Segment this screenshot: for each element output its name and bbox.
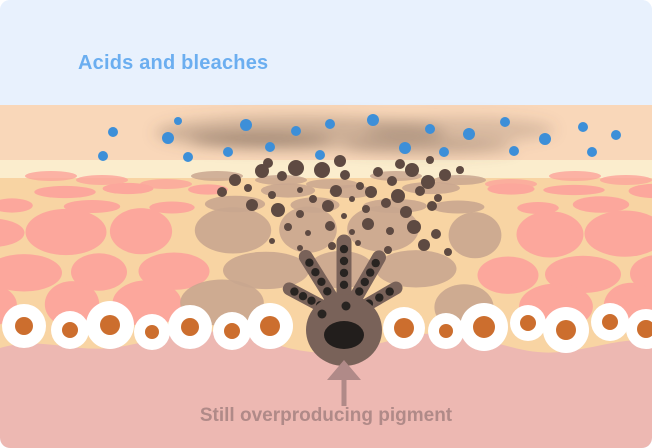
basal-cell-nucleus [602,314,618,330]
corneocyte [25,171,77,181]
melanin-granule [387,176,397,186]
soma-granule [318,310,327,319]
melanin-granule [415,186,425,196]
melanin-granule [356,182,364,190]
pigmented-keratinocyte [376,250,457,287]
dendrite-granule [386,287,394,295]
basal-cell-nucleus [15,317,33,335]
dendrite-granule [375,293,383,301]
melanin-granule [284,223,292,231]
acid-bleach-particle [539,133,551,145]
melanocyte-nucleus [324,321,364,349]
dendrite-granule [366,268,374,276]
corneocyte [76,175,128,185]
dendrite-granule [317,278,325,286]
melanin-granule [349,229,355,235]
melanin-granule [434,194,442,202]
melanin-granule [309,195,317,203]
dendrite-granule [340,257,348,265]
melanin-granule [384,246,392,254]
melanin-granule [269,238,275,244]
dendrite-granule [372,259,380,267]
dendrite-granule [340,281,348,289]
melanin-granule [362,205,370,213]
dendrite-granule [290,287,298,295]
melanin-granule [407,220,421,234]
acid-bleach-particle [425,124,435,134]
basal-cell-nucleus [439,324,453,338]
keratinocyte [517,211,584,257]
dendrite-granule [311,268,319,276]
pigmented-keratinocyte [432,201,485,214]
melanin-granule [246,199,258,211]
melanin-granule [325,221,335,231]
dendrite-granule [307,297,315,305]
acid-bleach-particle [587,147,597,157]
keratinocyte [573,196,629,213]
acid-bleach-particle [291,126,301,136]
acid-bleach-particle [174,117,182,125]
melanin-granule [297,245,303,251]
melanin-granule [244,184,252,192]
keratinocyte [0,254,62,291]
keratinocyte [0,198,33,212]
acid-bleach-particle [578,122,588,132]
melanin-granule [456,166,464,174]
melanin-granule [381,198,391,208]
acid-bleach-particle [399,142,411,154]
melanin-granule [271,203,285,217]
acid-bleach-particle [265,142,275,152]
basal-cell-nucleus [62,322,78,338]
melanin-granule [314,162,330,178]
basal-cell-nucleus [100,315,120,335]
corneocyte [485,179,537,189]
pigment-smudge-group [155,116,555,154]
acid-bleach-particle [223,147,233,157]
basal-cell-nucleus [520,315,536,331]
melanin-granule [431,229,441,239]
dendrite-granule [305,259,313,267]
acid-bleach-particle [463,128,475,140]
melanin-granule [330,185,342,197]
melanin-granule [427,201,437,211]
melanin-granule [386,227,394,235]
corneocyte [600,175,652,185]
melanin-granule [268,191,276,199]
acid-bleach-particle [325,119,335,129]
melanin-granule [426,156,434,164]
keratinocyte [0,219,25,248]
dendrite-granule [340,269,348,277]
melanin-granule [418,239,430,251]
corneocyte [549,171,601,181]
melanin-granule [305,230,311,236]
melanin-granule [444,248,452,256]
melanin-granule [288,160,304,176]
skin-cross-section-illustration: Acids and bleaches Still overproducing p… [0,0,652,448]
page-title: Acids and bleaches [78,52,268,75]
basal-cell-nucleus [394,318,414,338]
melanin-granule [229,174,241,186]
dendrite-granule [323,287,331,295]
caption-label: Still overproducing pigment [0,405,652,427]
acid-bleach-particle [439,147,449,157]
melanin-granule [362,218,374,230]
keratinocyte [110,208,172,254]
acid-bleach-particle [500,117,510,127]
dendrite-granule [340,245,348,253]
acid-bleach-particle [367,114,379,126]
melanin-granule [322,200,334,212]
basal-cell-nucleus [224,323,240,339]
acid-bleach-particle [240,119,252,131]
melanin-granule [277,171,287,181]
melanin-granule [355,240,361,246]
corneocyte [140,179,192,189]
melanin-granule [421,175,435,189]
keratinocyte [26,209,107,255]
melanin-granule [400,206,412,218]
pigmented-keratinocyte [449,212,502,258]
melanin-granule [328,242,336,250]
basal-cell-nucleus [260,316,280,336]
acid-bleach-particle [509,146,519,156]
melanin-granule [349,196,355,202]
basal-cell-nucleus [145,325,159,339]
melanin-granule [395,159,405,169]
pigmented-keratinocyte [195,207,271,253]
melanin-granule [341,213,347,219]
melanin-granule [263,158,273,168]
keratinocyte [34,186,95,198]
dendrite-granule [361,278,369,286]
acid-bleach-particle [162,132,174,144]
melanin-granule [439,169,451,181]
acid-bleach-particle [108,127,118,137]
acid-bleach-particle [315,150,325,160]
melanin-granule [334,155,346,167]
pigment-smudge [365,117,555,143]
melanin-granule [296,210,304,218]
melanin-granule [373,167,383,177]
basal-cell-nucleus [556,320,576,340]
soma-granule [342,302,351,311]
melanin-granule [297,187,303,193]
keratinocyte [478,257,539,294]
acid-bleach-particle [183,152,193,162]
keratinocyte [629,184,652,198]
melanin-granule [391,189,405,203]
melanin-granule [217,187,227,197]
pigment-smudge [190,134,330,146]
dendrite-granule [355,287,363,295]
acid-bleach-particle [98,151,108,161]
keratinocyte [543,185,604,195]
basal-cell-nucleus [181,318,199,336]
melanin-granule [365,186,377,198]
acid-bleach-particle [611,130,621,140]
basal-cell-nucleus [473,316,495,338]
melanin-granule [340,170,350,180]
melanin-granule [405,163,419,177]
dendrite-granule [299,292,307,300]
keratinocyte [585,211,652,257]
